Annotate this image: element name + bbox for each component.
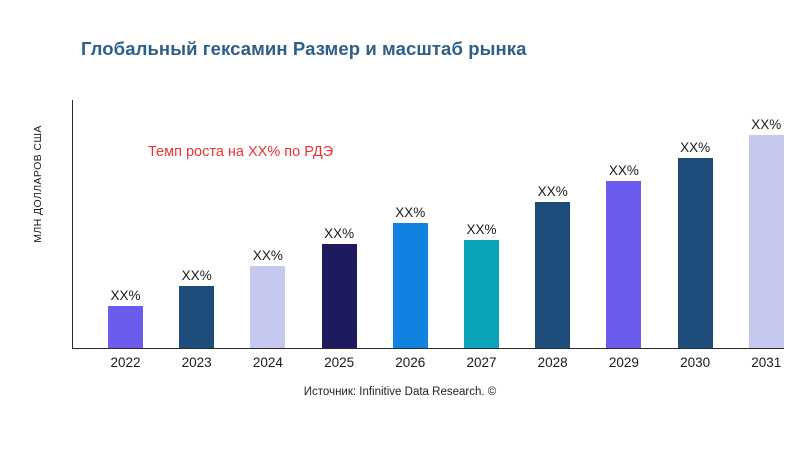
bar-value-label: XX% — [609, 163, 639, 178]
bar[interactable] — [250, 266, 285, 348]
bar[interactable] — [108, 306, 143, 348]
bar[interactable] — [464, 240, 499, 348]
bar-value-label: XX% — [751, 117, 781, 132]
bar-value-label: XX% — [538, 184, 568, 199]
bar-value-label: XX% — [110, 288, 140, 303]
bar-group: XX% — [535, 202, 570, 348]
bar-group: XX% — [250, 266, 285, 348]
bar-group: XX% — [678, 158, 713, 348]
x-axis-tick-label: 2026 — [375, 355, 445, 370]
bar[interactable] — [678, 158, 713, 348]
x-axis-tick-label: 2027 — [447, 355, 517, 370]
bar-value-label: XX% — [324, 226, 354, 241]
x-axis-tick-label: 2024 — [233, 355, 303, 370]
source-note: Источник: Infinitive Data Research. © — [0, 386, 800, 398]
bar[interactable] — [393, 223, 428, 348]
x-axis-tick-label: 2025 — [304, 355, 374, 370]
x-axis-tick-label: 2031 — [731, 355, 800, 370]
bar-value-label: XX% — [253, 248, 283, 263]
bar[interactable] — [606, 181, 641, 348]
bar-group: XX% — [322, 244, 357, 348]
x-axis-tick-label: 2028 — [518, 355, 588, 370]
x-axis-tick-label: 2023 — [162, 355, 232, 370]
bar-chart: Глобальный гексамин Размер и масштаб рын… — [0, 0, 800, 450]
bar-value-label: XX% — [395, 205, 425, 220]
bar-group: XX% — [606, 181, 641, 348]
x-axis-tick-label: 2022 — [91, 355, 161, 370]
bar-value-label: XX% — [466, 222, 496, 237]
bar[interactable] — [322, 244, 357, 348]
x-axis-tick-label: 2029 — [589, 355, 659, 370]
bar-group: XX% — [464, 240, 499, 348]
growth-rate-annotation: Темп роста на XX% по РДЭ — [148, 144, 333, 160]
bar[interactable] — [535, 202, 570, 348]
bar[interactable] — [179, 286, 214, 348]
bar-group: XX% — [393, 223, 428, 348]
bar-value-label: XX% — [182, 268, 212, 283]
bar-group: XX% — [179, 286, 214, 348]
bar-group: XX% — [749, 135, 784, 348]
bar-group: XX% — [108, 306, 143, 348]
bar[interactable] — [749, 135, 784, 348]
x-axis-tick-label: 2030 — [660, 355, 730, 370]
bar-value-label: XX% — [680, 140, 710, 155]
plot-area: XX%2022XX%2023XX%2024XX%2025XX%2026XX%20… — [0, 0, 800, 450]
